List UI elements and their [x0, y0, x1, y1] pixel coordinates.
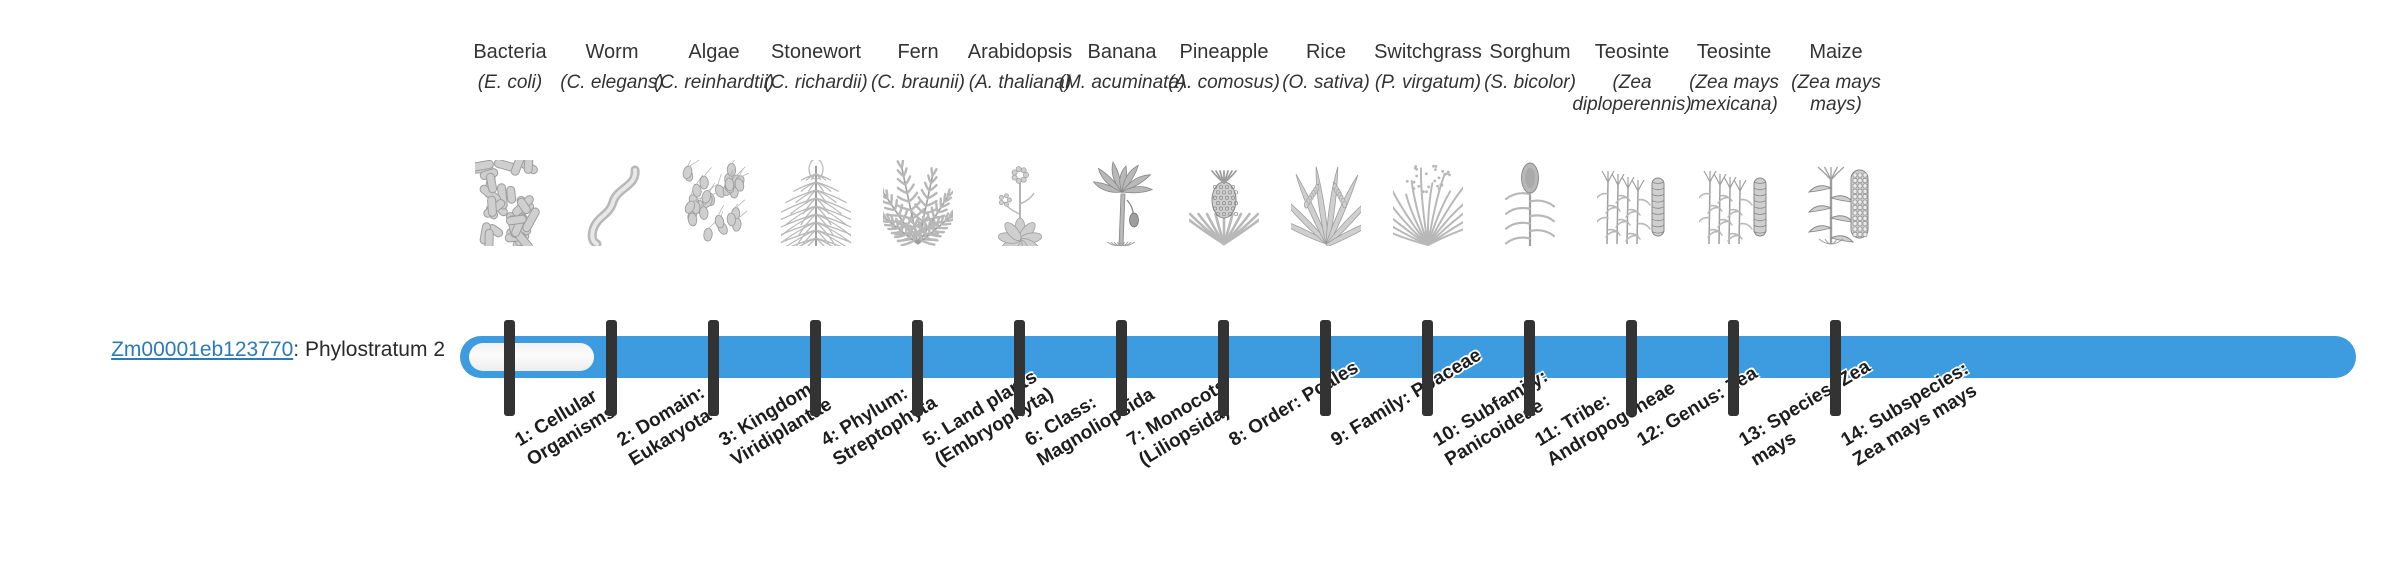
rice-plant-icon [1276, 160, 1376, 246]
phylostratum-tick[interactable] [1728, 320, 1739, 416]
phylostratum-tick[interactable] [1014, 320, 1025, 416]
switchgrass-plant-icon [1378, 160, 1478, 246]
species-column: Maize(Zea mays mays)14: Subspecies: Zea … [1785, 0, 1887, 580]
teosinte-plant-and-ear-icon [1582, 160, 1682, 246]
species-name-block: Maize(Zea mays mays) [1769, 40, 1903, 116]
phylostratum-tick[interactable] [504, 320, 515, 416]
maize-plant-and-cob-icon [1786, 160, 1886, 246]
phylostratum-tick[interactable] [1830, 320, 1841, 416]
pineapple-plant-icon [1174, 160, 1274, 246]
phylostratum-tick[interactable] [1218, 320, 1229, 416]
phylostratum-bar-fill [469, 343, 594, 371]
fern-frond-icon [868, 160, 968, 246]
phylostratum-tick[interactable] [810, 320, 821, 416]
phylostratum-tick[interactable] [1524, 320, 1535, 416]
green-algae-cells-icon [664, 160, 764, 246]
phylostratum-tick[interactable] [606, 320, 617, 416]
species-scientific-name: (Zea mays mays) [1769, 72, 1903, 116]
phylostratum-tick[interactable] [1320, 320, 1331, 416]
bacteria-rods-icon [460, 160, 560, 246]
phylostratum-tick[interactable] [912, 320, 923, 416]
species-timeline: Bacteria(E. coli)1: Cellular OrganismsWo… [0, 0, 2400, 580]
species-common-name: Maize [1769, 40, 1903, 64]
banana-plant-icon [1072, 160, 1172, 246]
phylostratum-tick[interactable] [1116, 320, 1127, 416]
arabidopsis-rosette-icon [970, 160, 1070, 246]
teosinte-plant-and-ear-icon [1684, 160, 1784, 246]
sorghum-plant-icon [1480, 160, 1580, 246]
phylostratum-tick[interactable] [708, 320, 719, 416]
nematode-worm-icon [562, 160, 662, 246]
stonewort-whorl-icon [766, 160, 866, 246]
phylostratum-tick[interactable] [1422, 320, 1433, 416]
phylostratum-tick[interactable] [1626, 320, 1637, 416]
